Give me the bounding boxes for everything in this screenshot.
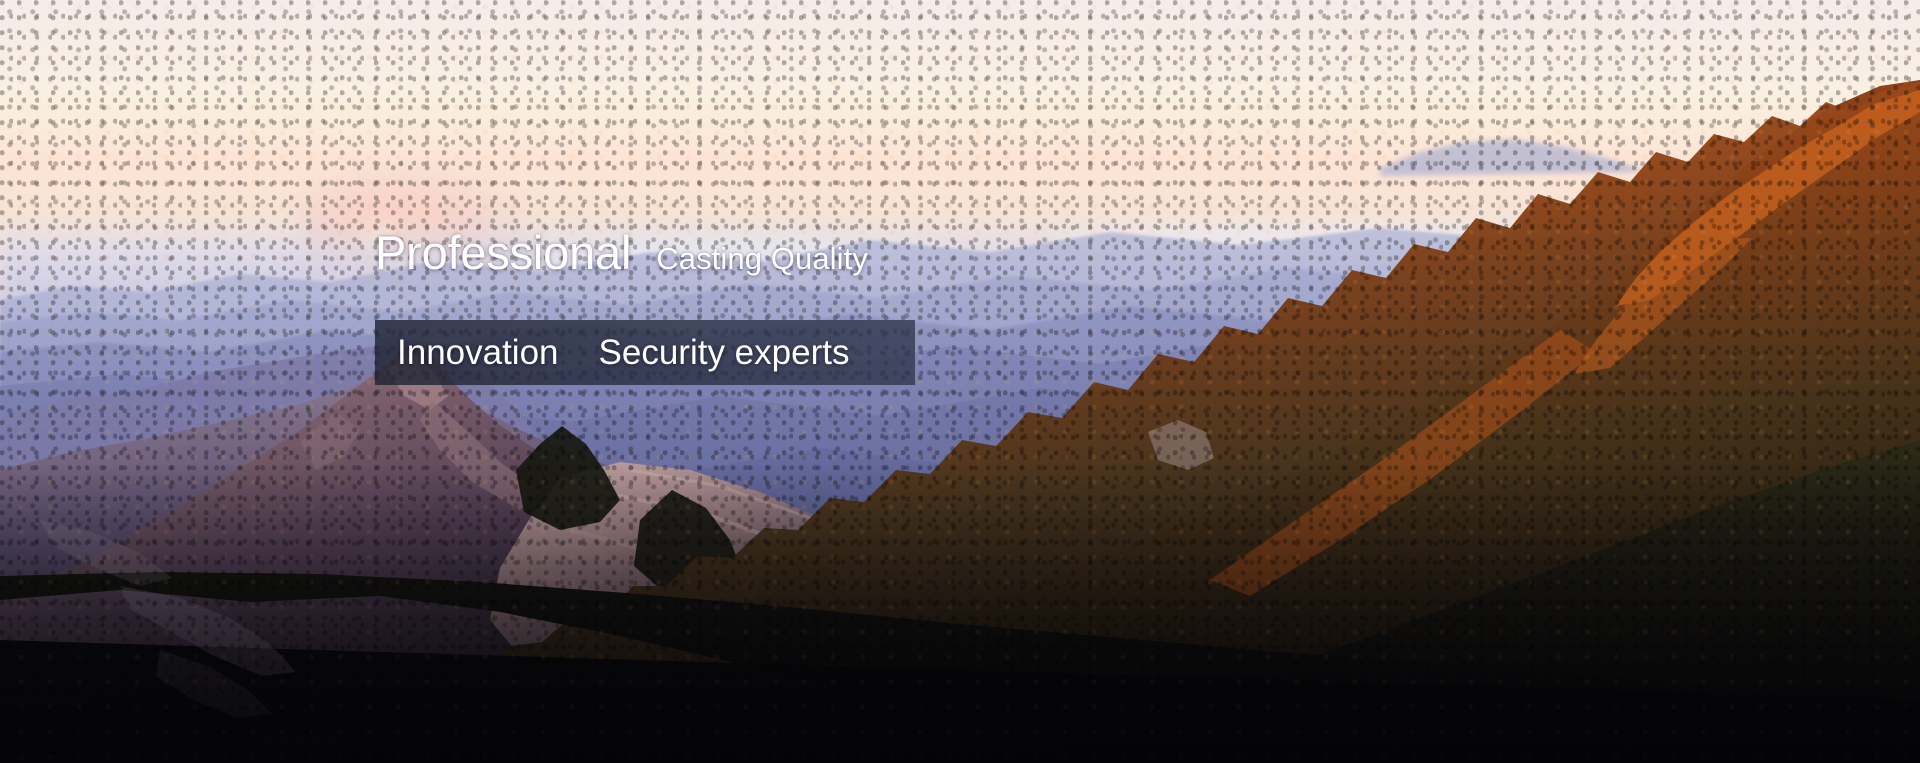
hero-banner: Professional Casting Quality Innovation … (0, 0, 1920, 763)
tagline-second: Security experts (599, 333, 850, 373)
headline-secondary: Casting Quality (656, 241, 868, 277)
tagline-first: Innovation (397, 333, 559, 373)
tagline-panel: Innovation Security experts (375, 320, 915, 385)
headline-group: Professional Casting Quality Innovation … (0, 0, 1920, 763)
headline-line-one: Professional Casting Quality (375, 228, 868, 277)
headline-primary: Professional (375, 228, 631, 277)
tagline-row: Innovation Security experts (375, 333, 849, 373)
